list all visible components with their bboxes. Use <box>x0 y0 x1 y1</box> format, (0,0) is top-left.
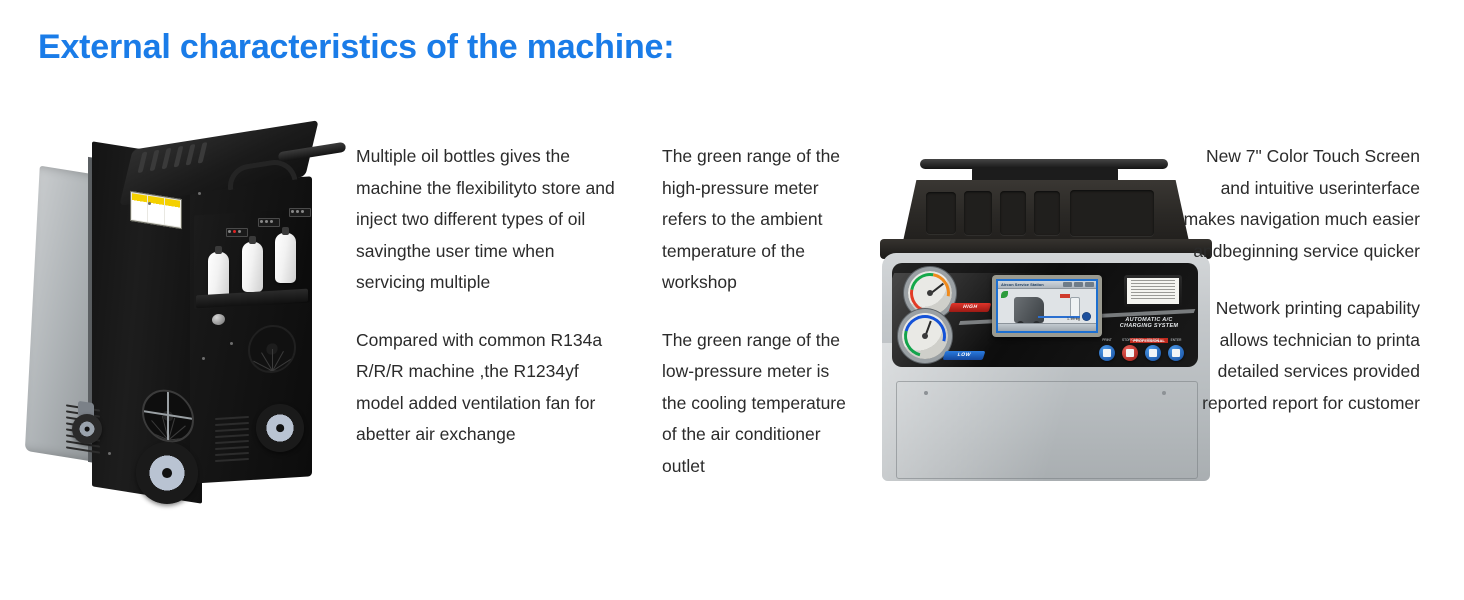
text-column-middle: The green range of the high-pressure met… <box>662 141 858 482</box>
touch-screen-bezel: Aircon Service Station 1.15 kg <box>996 279 1098 333</box>
screw-icon <box>230 342 233 345</box>
door-dimple <box>1162 391 1166 395</box>
text-block: New 7" Color Touch Screen and intuitive … <box>1180 141 1420 267</box>
page-title: External characteristics of the machine: <box>38 28 674 67</box>
oil-bottle <box>275 233 296 283</box>
low-pressure-gauge-label: LOW <box>943 351 986 360</box>
screw-icon <box>108 452 111 455</box>
text-block: The green range of the high-pressure met… <box>662 141 858 299</box>
screen-indicator-block <box>1060 294 1070 298</box>
gauge-high-text: HIGH <box>949 303 992 312</box>
select-button[interactable] <box>1145 345 1161 361</box>
screen-status-bar <box>998 323 1096 331</box>
text-block: Multiple oil bottles gives the machine t… <box>356 141 628 299</box>
screen-top-buttons[interactable] <box>1063 282 1094 287</box>
screen-weight-value: 1.15 kg <box>1067 316 1080 321</box>
brand-line-2: CHARGING SYSTEM <box>1118 323 1180 329</box>
low-pressure-gauge <box>902 313 948 359</box>
screen-machine-illustration <box>1014 297 1044 323</box>
machine-left-image <box>30 132 350 552</box>
oil-bottle-led-panel <box>226 228 248 237</box>
high-pressure-gauge <box>908 271 952 315</box>
oil-bottle-led-panel <box>258 218 280 227</box>
machine-right-rail-stem <box>972 168 1118 182</box>
text-column-left: Multiple oil bottles gives the machine t… <box>356 141 628 451</box>
high-pressure-gauge-label: HIGH <box>949 303 992 312</box>
machine-right-cabinet-door[interactable] <box>896 381 1198 479</box>
machine-left-vent-louvres <box>215 416 249 466</box>
panel-button-labels: PRINT STOP/CANCEL SELECT ENTER <box>1099 338 1184 343</box>
printer-paper <box>1127 278 1179 304</box>
eco-leaf-icon <box>1001 291 1008 298</box>
gauge-low-text: LOW <box>943 351 986 360</box>
screw-icon <box>198 192 201 195</box>
print-button-label: PRINT <box>1099 338 1115 343</box>
slide-canvas: External characteristics of the machine: <box>0 0 1464 600</box>
text-block: Network printing capability allows techn… <box>1180 293 1420 419</box>
machine-right-tool-tray <box>902 180 1190 246</box>
text-column-right: New 7" Color Touch Screen and intuitive … <box>1180 141 1420 419</box>
oil-bottle-led-panel <box>289 208 311 217</box>
machine-right-control-panel: HIGH LOW Aircon Service Station <box>892 263 1198 367</box>
machine-left-caster-wheel <box>72 414 102 444</box>
machine-left-front-wheel <box>136 442 198 504</box>
screen-title: Aircon Service Station <box>1001 281 1044 288</box>
text-block: Compared with common R134a R/R/R machine… <box>356 325 628 451</box>
touch-screen[interactable]: Aircon Service Station 1.15 kg <box>992 275 1102 337</box>
oil-bottle <box>242 242 263 292</box>
screen-brand-logo <box>1082 312 1091 321</box>
select-button-label: SELECT <box>1145 338 1161 343</box>
door-dimple <box>924 391 928 395</box>
thermal-printer[interactable] <box>1124 275 1182 307</box>
screw-icon <box>148 202 151 205</box>
machine-left-rear-wheel <box>256 404 304 452</box>
print-button[interactable] <box>1099 345 1115 361</box>
stop-button[interactable] <box>1122 345 1138 361</box>
screw-icon <box>202 357 205 360</box>
panel-buttons <box>1099 345 1184 361</box>
text-block: The green range of the low-pressure mete… <box>662 325 858 483</box>
stop-button-label: STOP/CANCEL <box>1122 338 1138 343</box>
